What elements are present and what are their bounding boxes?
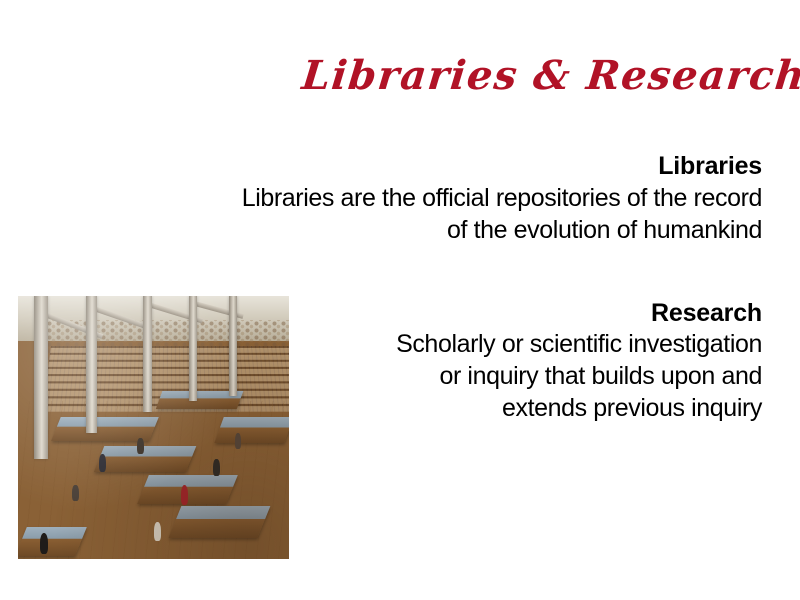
block-spacer [122, 246, 762, 299]
photo-column [34, 296, 48, 459]
block-heading-libraries: Libraries [122, 152, 762, 182]
photo-person [213, 459, 220, 476]
library-reading-room-photo [18, 296, 289, 559]
body-line: Libraries are the official repositories … [122, 182, 762, 214]
photo-person [154, 522, 161, 540]
slide-canvas: Libraries & Research Libraries Libraries… [0, 0, 800, 600]
photo-column [86, 296, 97, 433]
photo-desk-row [214, 417, 289, 443]
photo-column [229, 296, 237, 396]
photo-person [99, 454, 106, 472]
photo-person [181, 485, 189, 505]
body-line: of the evolution of humankind [122, 214, 762, 246]
block-body-libraries: Libraries are the official repositories … [122, 182, 762, 246]
photo-person [137, 438, 144, 454]
slide-title: Libraries & Research [300, 56, 754, 96]
photo-base [18, 296, 289, 559]
photo-desk-row [169, 506, 271, 538]
photo-column [189, 296, 197, 401]
photo-person [40, 533, 49, 554]
photo-person [72, 485, 79, 501]
photo-column [143, 296, 152, 412]
photo-desk-row [51, 417, 158, 441]
photo-desk-row [18, 527, 86, 556]
photo-desk-row [94, 446, 197, 472]
photo-person [235, 433, 241, 449]
